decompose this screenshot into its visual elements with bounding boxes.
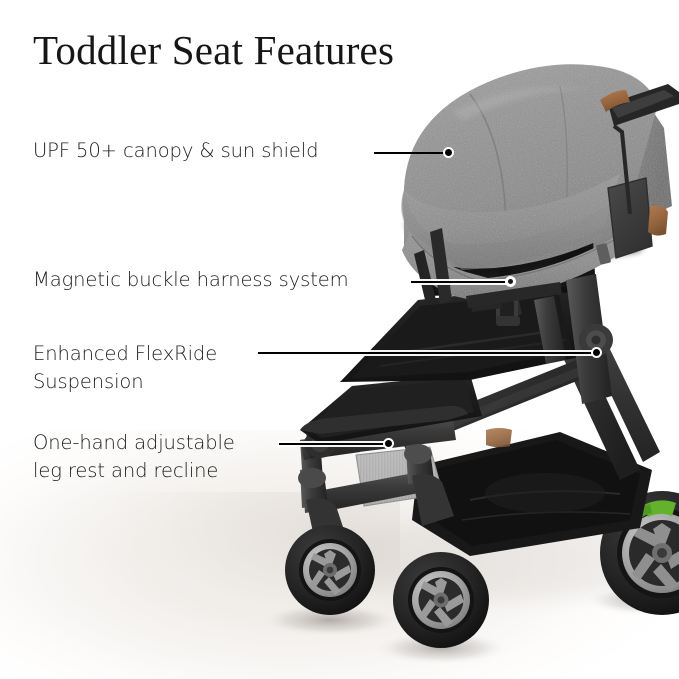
- basket-mesh-panel: [356, 447, 443, 506]
- feature-label-canopy-line1: UPF 50+ canopy & sun shield: [33, 139, 318, 162]
- handlebar-leather-grip: [600, 90, 630, 112]
- canopy-side-panel: [552, 86, 672, 242]
- feature-label-legrest-line1: One-hand adjustable: [33, 431, 235, 454]
- feature-label-legrest: One-hand adjustable leg rest and recline: [33, 429, 235, 485]
- frame-rear-legs: [540, 300, 660, 480]
- feature-label-harness: Magnetic buckle harness system: [33, 266, 349, 294]
- ground-contact-shadows: [258, 520, 679, 665]
- feature-label-canopy: UPF 50+ canopy & sun shield: [33, 137, 318, 165]
- seat-frame-tubes: [414, 228, 566, 364]
- canopy-brand-tag: [596, 243, 612, 265]
- leader-dot-legrest: [383, 438, 394, 449]
- feature-label-legrest-line2: leg rest and recline: [33, 457, 235, 485]
- leader-line-canopy: [374, 152, 448, 154]
- rear-wheel: [600, 491, 679, 615]
- front-wheel-right: [393, 444, 489, 648]
- infographic-canvas: Toddler Seat Features UPF 50+ canopy & s…: [0, 0, 679, 679]
- feature-label-harness-line1: Magnetic buckle harness system: [33, 268, 349, 291]
- leader-line-legrest: [279, 443, 387, 445]
- magnetic-buckle: [496, 296, 518, 322]
- canopy-panel-2: [402, 174, 620, 268]
- canopy-support-rod: [614, 126, 630, 214]
- wheel-green-accent: [644, 500, 676, 517]
- leader-dot-suspension: [591, 347, 602, 358]
- leader-line-harness: [411, 281, 510, 283]
- frame-seat-support: [304, 414, 456, 458]
- leader-line-suspension: [258, 352, 597, 354]
- leader-dot-harness: [505, 276, 516, 287]
- canopy-leather-tab: [648, 206, 668, 236]
- canopy: [401, 64, 672, 302]
- feature-label-suspension: Enhanced FlexRide Suspension: [33, 340, 217, 396]
- seat-base: [340, 284, 584, 382]
- feature-label-suspension-line2: Suspension: [33, 368, 217, 396]
- feature-label-suspension-line1: Enhanced FlexRide: [33, 342, 217, 365]
- canopy-mesh-window: [608, 178, 652, 258]
- seat-leather-accent: [486, 428, 512, 447]
- leader-dot-canopy: [443, 147, 454, 158]
- floor-edge-shadow: [0, 492, 400, 679]
- canopy-front-rim: [401, 190, 622, 270]
- frame-upright-right: [566, 274, 613, 404]
- handlebar: [600, 84, 679, 214]
- canopy-visor: [402, 230, 626, 302]
- front-wheel-left: [285, 468, 375, 615]
- canopy-panel-1: [404, 64, 658, 268]
- page-title: Toddler Seat Features: [33, 26, 394, 74]
- frame-cross-tube: [398, 352, 604, 450]
- seat-leg-rest: [300, 374, 482, 444]
- storage-basket: [412, 432, 652, 556]
